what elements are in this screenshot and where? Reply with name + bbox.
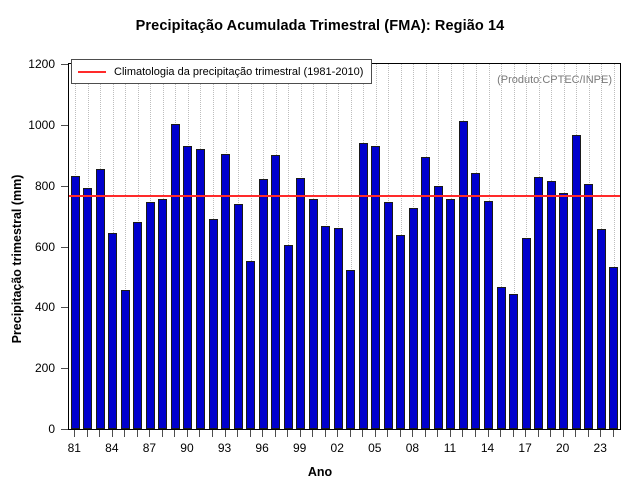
bar (584, 184, 593, 429)
bar (321, 226, 330, 429)
y-tick-mark (61, 186, 68, 187)
y-tick-mark (61, 307, 68, 308)
legend-item-label: Climatologia da precipitação trimestral … (114, 66, 363, 78)
bar (71, 176, 80, 429)
bar (609, 267, 618, 429)
x-tick-mark (149, 430, 150, 437)
x-tick-mark (212, 430, 213, 437)
x-tick-mark (575, 430, 576, 437)
bar (209, 219, 218, 429)
y-tick-label: 0 (48, 422, 55, 436)
x-tick-mark (400, 430, 401, 437)
x-tick-mark (187, 430, 188, 437)
bar (446, 199, 455, 429)
bar (284, 245, 293, 429)
x-tick-label: 08 (406, 441, 419, 455)
x-tick-label: 17 (518, 441, 531, 455)
x-tick-mark (613, 430, 614, 437)
bar (334, 228, 343, 429)
y-tick-label: 1200 (28, 57, 55, 71)
x-tick-mark (475, 430, 476, 437)
x-tick-mark (450, 430, 451, 437)
legend: Climatologia da precipitação trimestral … (71, 59, 372, 84)
y-axis: 020040060080010001200 Precipitação trime… (0, 63, 68, 430)
x-tick-label: 02 (331, 441, 344, 455)
x-tick-mark (325, 430, 326, 437)
bar (296, 178, 305, 429)
x-tick-mark (250, 430, 251, 437)
attribution-text: (Produto:CPTEC/INPE) (497, 74, 612, 86)
y-tick-label: 800 (35, 179, 55, 193)
x-tick-mark (412, 430, 413, 437)
bar (96, 169, 105, 429)
bar (409, 208, 418, 429)
bar (484, 201, 493, 429)
x-tick-label: 23 (594, 441, 607, 455)
x-tick-mark (563, 430, 564, 437)
x-tick-mark (124, 430, 125, 437)
plot-area: (Produto:CPTEC/INPE) (68, 63, 621, 430)
bar (547, 181, 556, 429)
x-tick-mark (262, 430, 263, 437)
y-tick-mark (61, 125, 68, 126)
x-tick-mark (588, 430, 589, 437)
x-tick-mark (199, 430, 200, 437)
x-tick-mark (437, 430, 438, 437)
y-tick-mark (61, 64, 68, 65)
bar (534, 177, 543, 429)
x-tick-label: 96 (255, 441, 268, 455)
bar (183, 146, 192, 429)
x-tick-mark (513, 430, 514, 437)
y-tick-label: 600 (35, 240, 55, 254)
bar (497, 287, 506, 429)
x-tick-mark (337, 430, 338, 437)
x-tick-mark (237, 430, 238, 437)
x-tick-mark (99, 430, 100, 437)
bar (572, 135, 581, 429)
x-tick-mark (462, 430, 463, 437)
x-tick-mark (538, 430, 539, 437)
x-tick-mark (174, 430, 175, 437)
y-tick-mark (61, 247, 68, 248)
x-tick-label: 14 (481, 441, 494, 455)
x-tick-mark (525, 430, 526, 437)
x-tick-mark (137, 430, 138, 437)
x-tick-mark (387, 430, 388, 437)
x-tick-label: 87 (143, 441, 156, 455)
x-tick-label: 81 (68, 441, 81, 455)
y-tick-mark (61, 429, 68, 430)
bar (83, 188, 92, 429)
x-tick-mark (488, 430, 489, 437)
x-tick-mark (375, 430, 376, 437)
x-tick-mark (74, 430, 75, 437)
x-tick-mark (500, 430, 501, 437)
x-tick-mark (112, 430, 113, 437)
x-tick-mark (312, 430, 313, 437)
x-tick-label: 20 (556, 441, 569, 455)
x-tick-mark (362, 430, 363, 437)
x-tick-mark (600, 430, 601, 437)
bar (108, 233, 117, 429)
y-tick-label: 1000 (28, 118, 55, 132)
x-tick-label: 05 (368, 441, 381, 455)
bar (421, 157, 430, 429)
bar (246, 261, 255, 429)
page-title: Precipitação Acumulada Trimestral (FMA):… (0, 18, 640, 34)
x-tick-mark (350, 430, 351, 437)
bar (158, 199, 167, 429)
x-axis: 818487909396990205081114172023 (68, 430, 621, 470)
bar (509, 294, 518, 429)
bar (371, 146, 380, 429)
bar (133, 222, 142, 429)
x-tick-mark (225, 430, 226, 437)
bar (434, 186, 443, 429)
x-tick-mark (300, 430, 301, 437)
x-tick-mark (425, 430, 426, 437)
bar (522, 238, 531, 429)
y-tick-label: 200 (35, 361, 55, 375)
x-tick-label: 11 (444, 441, 456, 455)
x-tick-mark (162, 430, 163, 437)
bar (597, 229, 606, 429)
x-tick-mark (87, 430, 88, 437)
bar (196, 149, 205, 429)
legend-line-swatch-icon (78, 71, 106, 73)
bar (471, 173, 480, 429)
y-axis-label: Precipitação trimestral (mm) (10, 129, 24, 389)
bar (121, 290, 130, 429)
bar (346, 270, 355, 429)
x-axis-label: Ano (0, 465, 640, 479)
bar (146, 202, 155, 429)
chart-root: Precipitação Acumulada Trimestral (FMA):… (0, 0, 640, 500)
y-tick-label: 400 (35, 300, 55, 314)
bar (171, 124, 180, 429)
bar (559, 193, 568, 429)
x-tick-label: 99 (293, 441, 306, 455)
bar (309, 199, 318, 429)
x-tick-label: 84 (105, 441, 118, 455)
y-tick-mark (61, 368, 68, 369)
x-tick-mark (550, 430, 551, 437)
bar (396, 235, 405, 429)
bar (259, 179, 268, 429)
bar (359, 143, 368, 429)
x-tick-label: 93 (218, 441, 231, 455)
x-tick-mark (287, 430, 288, 437)
climatology-reference-line (69, 195, 620, 197)
bar (384, 202, 393, 429)
x-tick-label: 90 (180, 441, 193, 455)
bar (459, 121, 468, 429)
x-tick-mark (275, 430, 276, 437)
bar (234, 204, 243, 429)
